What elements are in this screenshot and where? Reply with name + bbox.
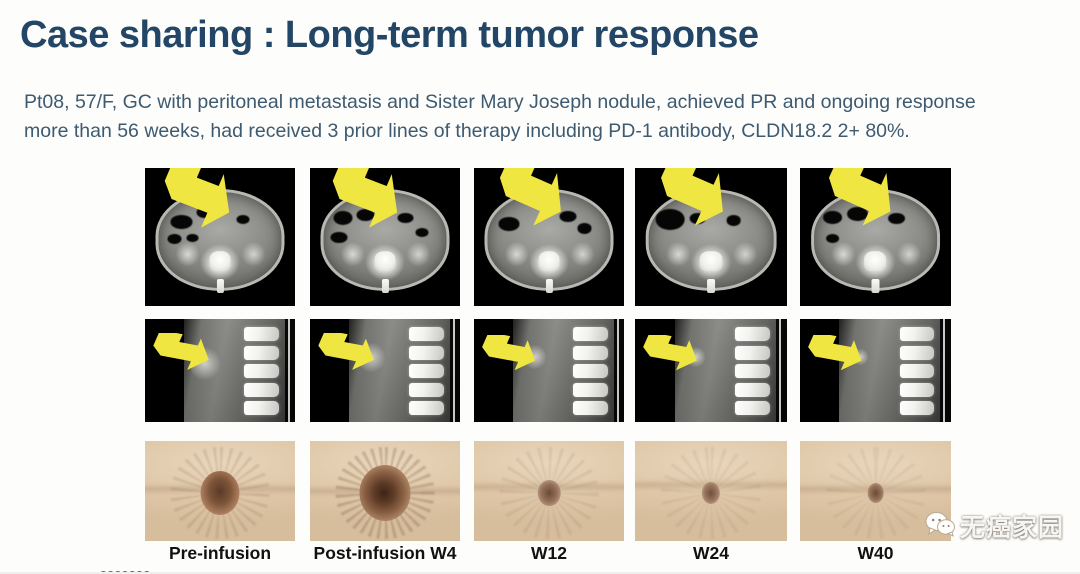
clinical-photo-w24 (635, 441, 787, 541)
image-edge-artifact (285, 319, 296, 422)
vertebra (735, 364, 770, 378)
spinous-process (707, 279, 714, 293)
page-title: Case sharing : Long-term tumor response (20, 14, 759, 57)
image-frame (310, 441, 460, 541)
tumor-arrow-icon (157, 168, 241, 243)
case-summary: Pt08, 57/F, GC with peritoneal metastasi… (24, 88, 1070, 146)
vertebra (244, 401, 279, 415)
spinous-process (545, 279, 552, 293)
image-frame (800, 441, 951, 541)
watermark-text: 无癌家园 (960, 508, 1064, 544)
image-frame (635, 319, 787, 422)
vertebra (409, 401, 444, 415)
vertebra (900, 346, 935, 360)
tumor-arrow-icon (477, 335, 543, 378)
image-edge-artifact (776, 319, 787, 422)
timepoint-label-w24: W24 (635, 543, 787, 564)
image-frame (474, 319, 624, 422)
vertebra (244, 383, 279, 397)
umbilical-nodule (867, 483, 884, 503)
spinous-process (381, 279, 388, 293)
image-frame (145, 441, 295, 541)
timepoint-label-post-infusion-w4: Post-infusion W4 (310, 543, 460, 564)
sagittal-ct-w40 (800, 319, 951, 422)
tumor-arrow-icon (492, 168, 573, 240)
vertebra (573, 383, 608, 397)
image-frame (635, 168, 787, 306)
sagittal-ct-w24 (635, 319, 787, 422)
bowel-gas (416, 227, 429, 236)
vertebra (735, 401, 770, 415)
sagittal-ct-pre-infusion (145, 319, 295, 422)
timepoint-label-pre-infusion: Pre-infusion (145, 543, 295, 564)
vertebra (573, 346, 608, 360)
image-frame (800, 319, 951, 422)
image-edge-artifact (940, 319, 951, 422)
slide-canvas: Case sharing : Long-term tumor response … (0, 0, 1080, 574)
bowel-gas (577, 223, 591, 233)
vertebral-body (209, 251, 231, 270)
vertebral-body (700, 251, 722, 270)
vertebra (900, 364, 935, 378)
image-edge-artifact (614, 319, 625, 422)
case-summary-line-2: more than 56 weeks, had received 3 prior… (24, 117, 1070, 146)
case-summary-line-1: Pt08, 57/F, GC with peritoneal metastasi… (24, 88, 1070, 117)
row-sagittal-ct (145, 319, 951, 422)
vertebra (735, 346, 770, 360)
vertebra (900, 401, 935, 415)
spinous-process (216, 279, 223, 293)
image-frame (635, 441, 787, 541)
clinical-photo-pre-infusion (145, 441, 295, 541)
umbilical-nodule (538, 480, 561, 506)
row-axial-ct (145, 168, 951, 306)
axial-ct-w12 (474, 168, 624, 306)
spinous-process (872, 279, 879, 293)
axial-ct-pre-infusion (145, 168, 295, 306)
tumor-arrow-icon (803, 335, 869, 378)
vertebra (244, 364, 279, 378)
image-frame (474, 441, 624, 541)
vertebra (409, 364, 444, 378)
tumor-arrow-icon (325, 168, 409, 243)
tumor-arrow-icon (313, 333, 382, 378)
clinical-photo-w40 (800, 441, 951, 541)
umbilical-nodule (201, 471, 240, 515)
image-frame (800, 168, 951, 306)
vertebra (735, 383, 770, 397)
vertebra (900, 383, 935, 397)
vertebral-body (864, 251, 886, 270)
vertebral-body (374, 251, 396, 270)
clinical-photo-w12 (474, 441, 624, 541)
vertebra (244, 327, 279, 341)
vertebra (900, 327, 935, 341)
tumor-arrow-icon (638, 335, 705, 378)
axial-ct-w24 (635, 168, 787, 306)
vertebra (735, 327, 770, 341)
sagittal-ct-w12 (474, 319, 624, 422)
timepoint-label-w40: W40 (800, 543, 951, 564)
imaging-grid (145, 168, 951, 541)
sagittal-ct-post-infusion-w4 (310, 319, 460, 422)
row-clinical-photo (145, 441, 951, 541)
axial-ct-w40 (800, 168, 951, 306)
vertebra (573, 364, 608, 378)
vertebra (244, 346, 279, 360)
image-frame (310, 168, 460, 306)
vertebra (573, 327, 608, 341)
vertebra (409, 383, 444, 397)
vertebra (409, 346, 444, 360)
image-frame (145, 168, 295, 306)
clinical-photo-post-infusion-w4 (310, 441, 460, 541)
timepoint-labels: Pre-infusion Post-infusion W4 W12 W24 W4… (145, 543, 951, 569)
vertebra (573, 401, 608, 415)
image-frame (145, 319, 295, 422)
tumor-arrow-icon (148, 333, 217, 378)
tumor-arrow-icon (653, 168, 735, 240)
tumor-arrow-icon (821, 168, 903, 240)
image-frame (474, 168, 624, 306)
image-edge-artifact (450, 319, 461, 422)
axial-ct-post-infusion-w4 (310, 168, 460, 306)
timepoint-label-w12: W12 (474, 543, 624, 564)
image-frame (310, 319, 460, 422)
umbilical-nodule (360, 465, 411, 521)
vertebral-body (538, 251, 560, 270)
vertebra (409, 327, 444, 341)
